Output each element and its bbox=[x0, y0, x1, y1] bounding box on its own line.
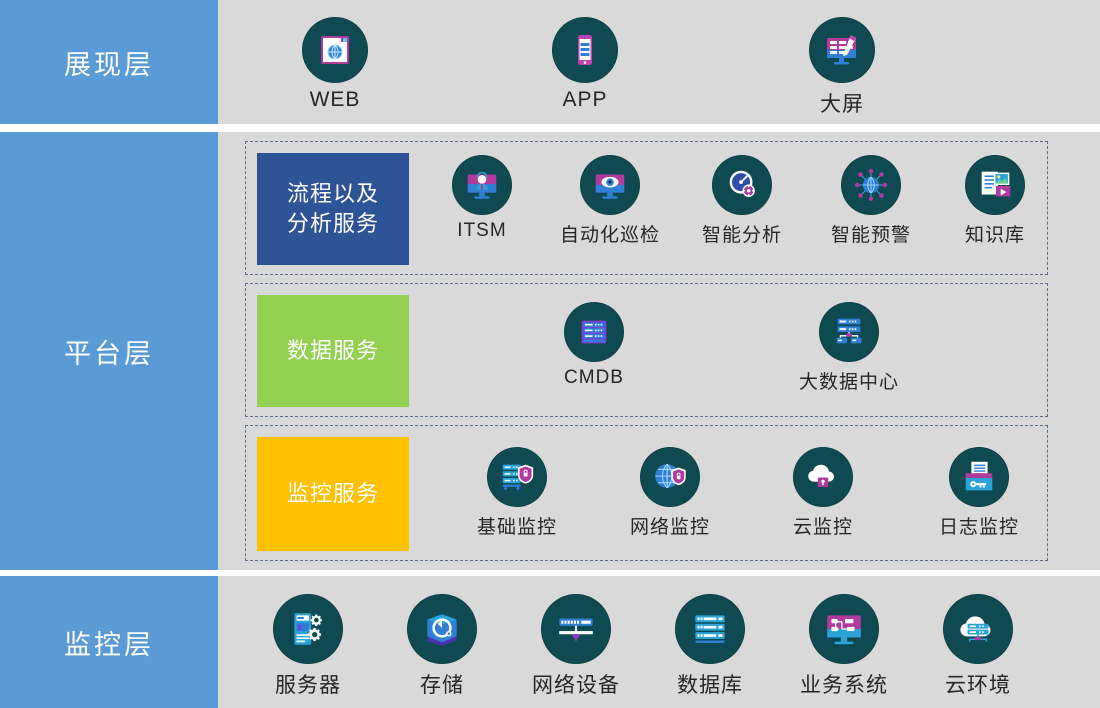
web-browser-globe-icon bbox=[302, 17, 368, 83]
node-cloud-monitor[interactable]: 云监控 bbox=[758, 447, 888, 539]
node-server[interactable]: 服务器 bbox=[243, 594, 373, 699]
monitor-eye-inspection-icon bbox=[580, 155, 640, 215]
tag-line-2: 分析服务 bbox=[287, 211, 379, 236]
big-data-center-icon bbox=[819, 302, 879, 362]
node-label: 数据库 bbox=[677, 669, 743, 699]
server-gears-icon bbox=[273, 594, 343, 664]
node-big-data-center[interactable]: 大数据中心 bbox=[784, 302, 914, 394]
node-web[interactable]: WEB bbox=[270, 17, 400, 112]
node-label: 大屏 bbox=[820, 88, 864, 118]
node-label: 网络监控 bbox=[630, 512, 710, 539]
large-screen-dashboard-icon bbox=[809, 17, 875, 83]
log-file-key-icon bbox=[949, 447, 1009, 507]
node-label: 云环境 bbox=[945, 669, 1011, 699]
business-system-monitor-icon bbox=[809, 594, 879, 664]
group-tag-monitor-service: 监控服务 bbox=[257, 437, 409, 551]
node-infra-monitor[interactable]: 基础监控 bbox=[452, 447, 582, 539]
node-label: APP bbox=[562, 88, 607, 112]
node-label: 智能预警 bbox=[831, 220, 911, 247]
tag-line-1: 数据服务 bbox=[287, 336, 379, 366]
database-rack-icon bbox=[675, 594, 745, 664]
layer-label-platform: 平台层 bbox=[0, 132, 218, 570]
cloud-environment-icon bbox=[943, 594, 1013, 664]
group-tag-process-analysis: 流程以及 分析服务 bbox=[257, 153, 409, 265]
knowledge-media-library-icon bbox=[965, 155, 1025, 215]
node-label: 自动化巡检 bbox=[560, 220, 660, 247]
layer-presentation: 展现层 WEB bbox=[0, 0, 1100, 124]
tag-line-1: 流程以及 bbox=[287, 181, 379, 206]
node-log-monitor[interactable]: 日志监控 bbox=[914, 447, 1044, 539]
mobile-phone-icon bbox=[552, 17, 618, 83]
layer-monitoring: 监控层 bbox=[0, 576, 1100, 708]
node-knowledge-base[interactable]: 知识库 bbox=[930, 155, 1060, 247]
layer-body-platform: 流程以及 分析服务 bbox=[218, 132, 1100, 570]
server-rack-icon bbox=[564, 302, 624, 362]
group-tag-data-service: 数据服务 bbox=[257, 295, 409, 407]
node-label: 日志监控 bbox=[939, 512, 1019, 539]
layer-label-monitoring: 监控层 bbox=[0, 576, 218, 708]
storage-backup-icon bbox=[407, 594, 477, 664]
tag-line-1: 监控服务 bbox=[287, 479, 379, 509]
node-label: 大数据中心 bbox=[799, 367, 899, 394]
group-monitor-service: 监控服务 bbox=[245, 425, 1048, 561]
gauge-analytics-icon bbox=[712, 155, 772, 215]
node-label: 存储 bbox=[420, 669, 464, 699]
group-process-analysis: 流程以及 分析服务 bbox=[245, 141, 1048, 275]
node-label: 基础监控 bbox=[477, 512, 557, 539]
node-label: 网络设备 bbox=[532, 669, 620, 699]
node-label: 业务系统 bbox=[800, 669, 888, 699]
node-label: 知识库 bbox=[965, 220, 1025, 247]
node-network-device[interactable]: 网络设备 bbox=[511, 594, 641, 699]
service-desk-agent-icon bbox=[452, 155, 512, 215]
node-smart-analysis[interactable]: 智能分析 bbox=[677, 155, 807, 247]
node-label: 云监控 bbox=[793, 512, 853, 539]
layer-label-presentation: 展现层 bbox=[0, 0, 218, 124]
node-database[interactable]: 数据库 bbox=[645, 594, 775, 699]
node-label: 智能分析 bbox=[702, 220, 782, 247]
node-cmdb[interactable]: CMDB bbox=[529, 302, 659, 389]
cloud-lock-icon bbox=[793, 447, 853, 507]
layer-body-presentation: WEB APP bbox=[218, 0, 1100, 124]
node-label: ITSM bbox=[457, 220, 506, 242]
node-label: 服务器 bbox=[275, 669, 341, 699]
group-data-service: 数据服务 bbox=[245, 283, 1048, 417]
node-storage[interactable]: 存储 bbox=[377, 594, 507, 699]
node-business-system[interactable]: 业务系统 bbox=[779, 594, 909, 699]
node-app[interactable]: APP bbox=[520, 17, 650, 112]
node-label: WEB bbox=[310, 88, 361, 112]
architecture-diagram: 展现层 WEB bbox=[0, 0, 1100, 708]
node-large-screen[interactable]: 大屏 bbox=[777, 17, 907, 118]
node-cloud-environment[interactable]: 云环境 bbox=[913, 594, 1043, 699]
layer-platform: 平台层 流程以及 分析服务 bbox=[0, 132, 1100, 570]
node-network-monitor[interactable]: 网络监控 bbox=[605, 447, 735, 539]
node-label: CMDB bbox=[564, 367, 624, 389]
node-auto-inspection[interactable]: 自动化巡检 bbox=[545, 155, 675, 247]
node-itsm[interactable]: ITSM bbox=[417, 155, 547, 242]
network-alert-globe-icon bbox=[841, 155, 901, 215]
node-smart-alert[interactable]: 智能预警 bbox=[806, 155, 936, 247]
network-switch-icon bbox=[541, 594, 611, 664]
globe-shield-icon bbox=[640, 447, 700, 507]
server-shield-icon bbox=[487, 447, 547, 507]
layer-body-monitoring: 服务器 存储 bbox=[218, 576, 1100, 708]
